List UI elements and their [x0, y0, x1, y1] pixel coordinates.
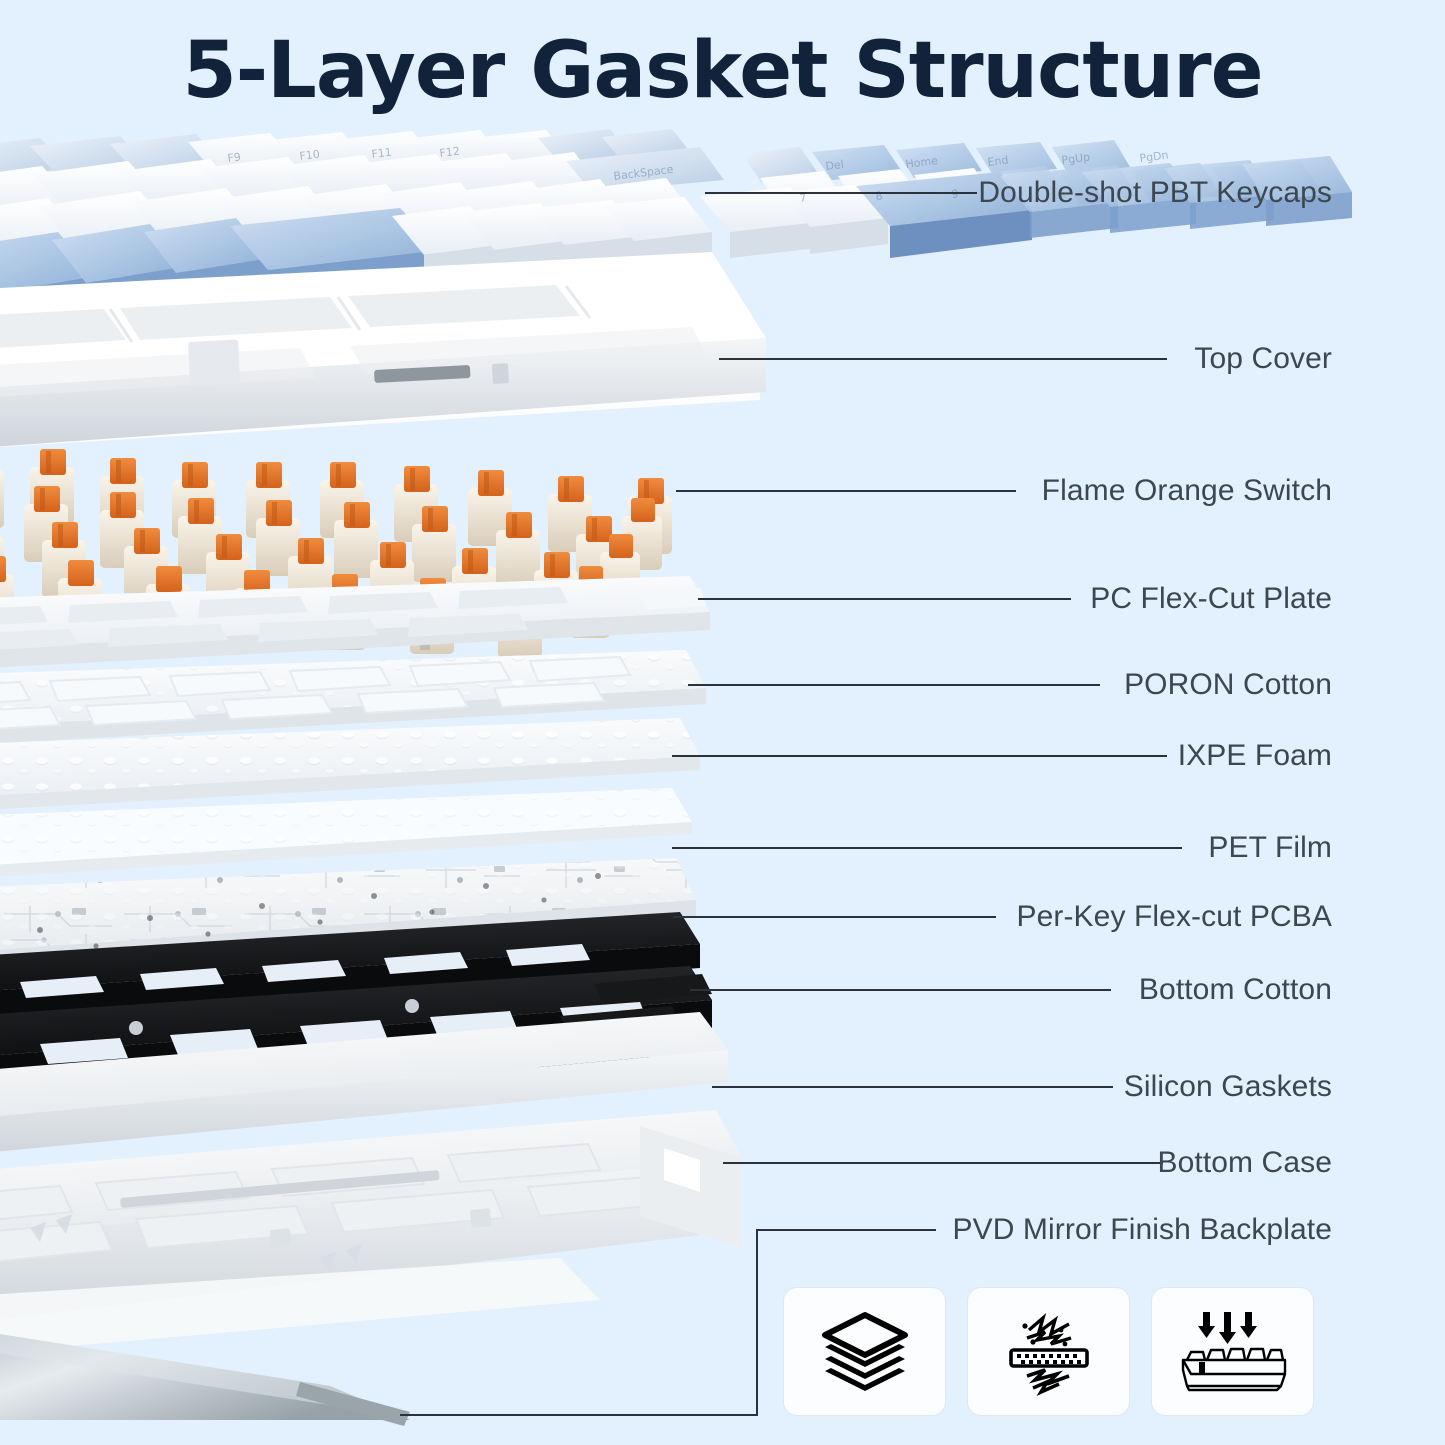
callout-label-ixpe: IXPE Foam [1178, 739, 1332, 773]
svg-text:PgUp: PgUp [1061, 151, 1091, 167]
feature-card-multi-layer-structure[interactable] [783, 1287, 946, 1416]
svg-text:End: End [987, 154, 1009, 169]
leader-line-ixpe [672, 755, 1167, 757]
callout-label-bottom-cotton: Bottom Cotton [1139, 973, 1332, 1007]
callout-label-keycaps: Double-shot PBT Keycaps [978, 176, 1332, 210]
svg-text:F11: F11 [371, 146, 393, 161]
leader-line-pvd-top [756, 1229, 936, 1231]
callout-label-pvd: PVD Mirror Finish Backplate [953, 1213, 1332, 1247]
layer-pvd-backplate [0, 1320, 412, 1426]
leader-line-pvd-vertical [756, 1229, 758, 1416]
layer-ixpe-foam [0, 718, 700, 814]
layer-pet-film [0, 788, 692, 882]
layer-top-cover [0, 252, 766, 452]
leader-line-bottom-case [723, 1162, 1163, 1164]
svg-text:Del: Del [825, 158, 845, 173]
leader-line-silicon [712, 1086, 1113, 1088]
leader-line-bottom-cotton [690, 989, 1111, 991]
page-title: 5-Layer Gasket Structure [0, 26, 1445, 116]
leader-line-plate [698, 598, 1071, 600]
svg-text:F12: F12 [439, 145, 461, 160]
layers-stack-icon [819, 1309, 911, 1395]
feature-card-gasket-cushioning[interactable] [1151, 1287, 1314, 1416]
callout-label-switches: Flame Orange Switch [1042, 474, 1332, 508]
layer-bottom-cotton [0, 912, 700, 1022]
leader-line-pet [672, 847, 1182, 849]
sound-dampening-icon [999, 1306, 1099, 1398]
feature-cards [783, 1287, 1314, 1416]
layer-keycaps: F9 F10 F11 F12 BackSpace Del Home End Pg… [0, 129, 1352, 322]
callout-label-pet: PET Film [1208, 831, 1332, 865]
callout-label-poron: PORON Cotton [1124, 668, 1332, 702]
layer-poron-cotton [0, 650, 706, 748]
leader-line-pcba [673, 916, 996, 918]
leader-line-pvd-bottom [400, 1414, 758, 1416]
svg-text:PgDn: PgDn [1139, 149, 1169, 165]
layer-plate [0, 576, 710, 672]
svg-text:BackSpace: BackSpace [613, 163, 675, 183]
infographic-canvas: F9 F10 F11 F12 BackSpace Del Home End Pg… [0, 0, 1445, 1445]
callout-label-plate: PC Flex-Cut Plate [1090, 582, 1332, 616]
svg-text:Home: Home [905, 154, 939, 171]
svg-text:9: 9 [951, 187, 960, 201]
layer-switches [0, 449, 672, 658]
feature-card-sound-dampening[interactable] [967, 1287, 1130, 1416]
leader-line-top-cover [719, 358, 1167, 360]
callout-label-top-cover: Top Cover [1194, 342, 1332, 376]
leader-line-switches [676, 490, 1016, 492]
leader-line-poron [688, 684, 1100, 686]
layer-pcba [0, 858, 696, 976]
layer-bottom-case [0, 1012, 742, 1360]
layer-silicon-gaskets [0, 966, 712, 1092]
svg-text:F9: F9 [227, 150, 242, 165]
callout-label-silicon: Silicon Gaskets [1124, 1070, 1332, 1104]
callout-label-bottom-case: Bottom Case [1157, 1146, 1332, 1180]
svg-text:F10: F10 [299, 148, 321, 163]
keyboard-press-icon [1177, 1308, 1289, 1396]
callout-label-pcba: Per-Key Flex-cut PCBA [1016, 900, 1332, 934]
leader-line-keycaps [705, 192, 977, 194]
